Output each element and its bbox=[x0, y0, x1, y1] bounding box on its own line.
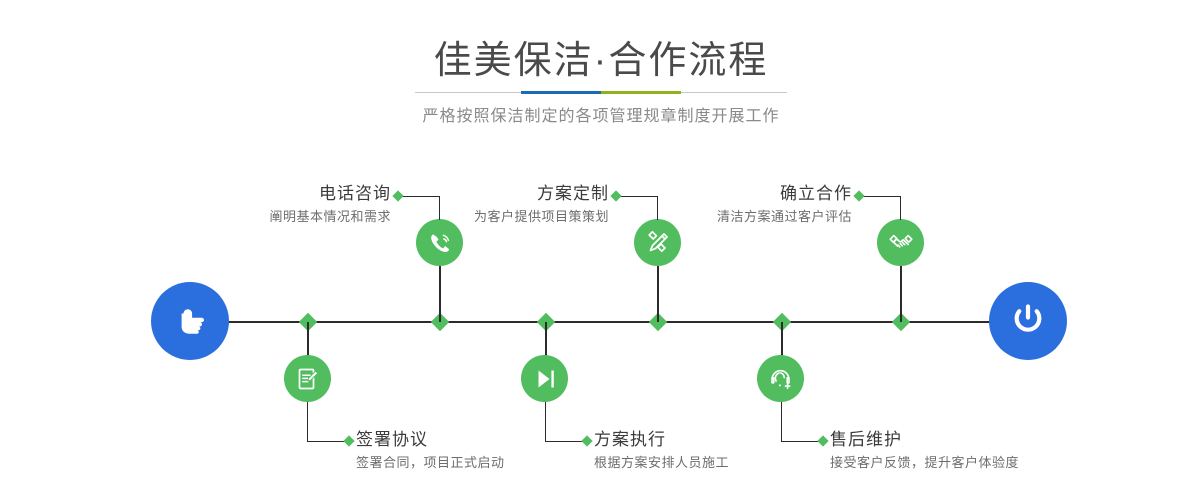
step-desc: 根据方案安排人员施工 bbox=[594, 453, 824, 473]
label-diamond-step-3 bbox=[610, 190, 621, 201]
elbow-v-step-5 bbox=[900, 196, 901, 220]
play-execute-icon bbox=[532, 366, 558, 392]
step-icon-step-2[interactable] bbox=[284, 355, 331, 402]
label-step-2: 签署协议 签署合同，项目正式启动 bbox=[356, 429, 586, 473]
label-step-4: 方案执行 根据方案安排人员施工 bbox=[594, 429, 824, 473]
handshake-icon bbox=[887, 229, 915, 257]
step-desc: 接受客户反馈，提升客户体验度 bbox=[830, 453, 1090, 473]
support-agent-add-icon bbox=[767, 365, 794, 392]
divider-green-segment bbox=[601, 91, 681, 94]
cooperation-process-infographic: 佳美保洁·合作流程 严格按照保洁制定的各项管理规章制度开展工作 bbox=[0, 0, 1202, 502]
step-icon-step-6[interactable] bbox=[757, 355, 804, 402]
pointing-hand-icon bbox=[170, 301, 210, 341]
page-title: 佳美保洁·合作流程 bbox=[0, 38, 1202, 84]
pencil-ruler-icon bbox=[644, 229, 672, 257]
document-edit-icon bbox=[295, 366, 321, 392]
label-step-6: 售后维护 接受客户反馈，提升客户体验度 bbox=[830, 429, 1090, 473]
title-divider bbox=[415, 91, 787, 94]
elbow-v-step-2 bbox=[307, 402, 308, 441]
divider-blue-segment bbox=[521, 91, 601, 94]
step-title: 方案定制 bbox=[390, 183, 609, 205]
step-title: 签署协议 bbox=[356, 429, 586, 451]
label-diamond-step-5 bbox=[853, 190, 864, 201]
elbow-h-step-5 bbox=[860, 196, 901, 197]
step-icon-step-5[interactable] bbox=[877, 219, 924, 266]
power-icon bbox=[1007, 300, 1049, 342]
elbow-v-step-4 bbox=[545, 402, 546, 441]
step-desc: 签署合同，项目正式启动 bbox=[356, 453, 586, 473]
step-title: 售后维护 bbox=[830, 429, 1090, 451]
phone-call-icon bbox=[426, 229, 454, 257]
step-title: 方案执行 bbox=[594, 429, 824, 451]
stem-step-5 bbox=[900, 266, 902, 322]
step-desc: 为客户提供项目策策划 bbox=[390, 207, 609, 227]
stem-step-1 bbox=[439, 266, 441, 322]
timeline: 电话咨询 阐明基本情况和需求 签署协议 签署合同，项目正式启动 bbox=[0, 145, 1202, 502]
elbow-v-step-6 bbox=[781, 402, 782, 441]
label-step-5: 确立合作 清洁方案通过客户评估 bbox=[632, 183, 852, 227]
elbow-h-step-2 bbox=[307, 441, 348, 442]
step-desc: 阐明基本情况和需求 bbox=[180, 207, 391, 227]
step-icon-step-4[interactable] bbox=[521, 355, 568, 402]
header: 佳美保洁·合作流程 严格按照保洁制定的各项管理规章制度开展工作 bbox=[0, 0, 1202, 145]
timeline-end-endpoint[interactable] bbox=[989, 282, 1067, 360]
elbow-h-step-6 bbox=[781, 441, 822, 442]
page-subtitle: 严格按照保洁制定的各项管理规章制度开展工作 bbox=[0, 105, 1202, 129]
elbow-h-step-4 bbox=[545, 441, 586, 442]
step-desc: 清洁方案通过客户评估 bbox=[632, 207, 852, 227]
stem-step-3 bbox=[657, 266, 659, 322]
step-title: 电话咨询 bbox=[180, 183, 391, 205]
step-title: 确立合作 bbox=[632, 183, 852, 205]
label-step-3: 方案定制 为客户提供项目策策划 bbox=[390, 183, 609, 227]
label-step-1: 电话咨询 阐明基本情况和需求 bbox=[180, 183, 391, 227]
label-diamond-step-2 bbox=[343, 435, 354, 446]
timeline-start-endpoint[interactable] bbox=[151, 282, 229, 360]
